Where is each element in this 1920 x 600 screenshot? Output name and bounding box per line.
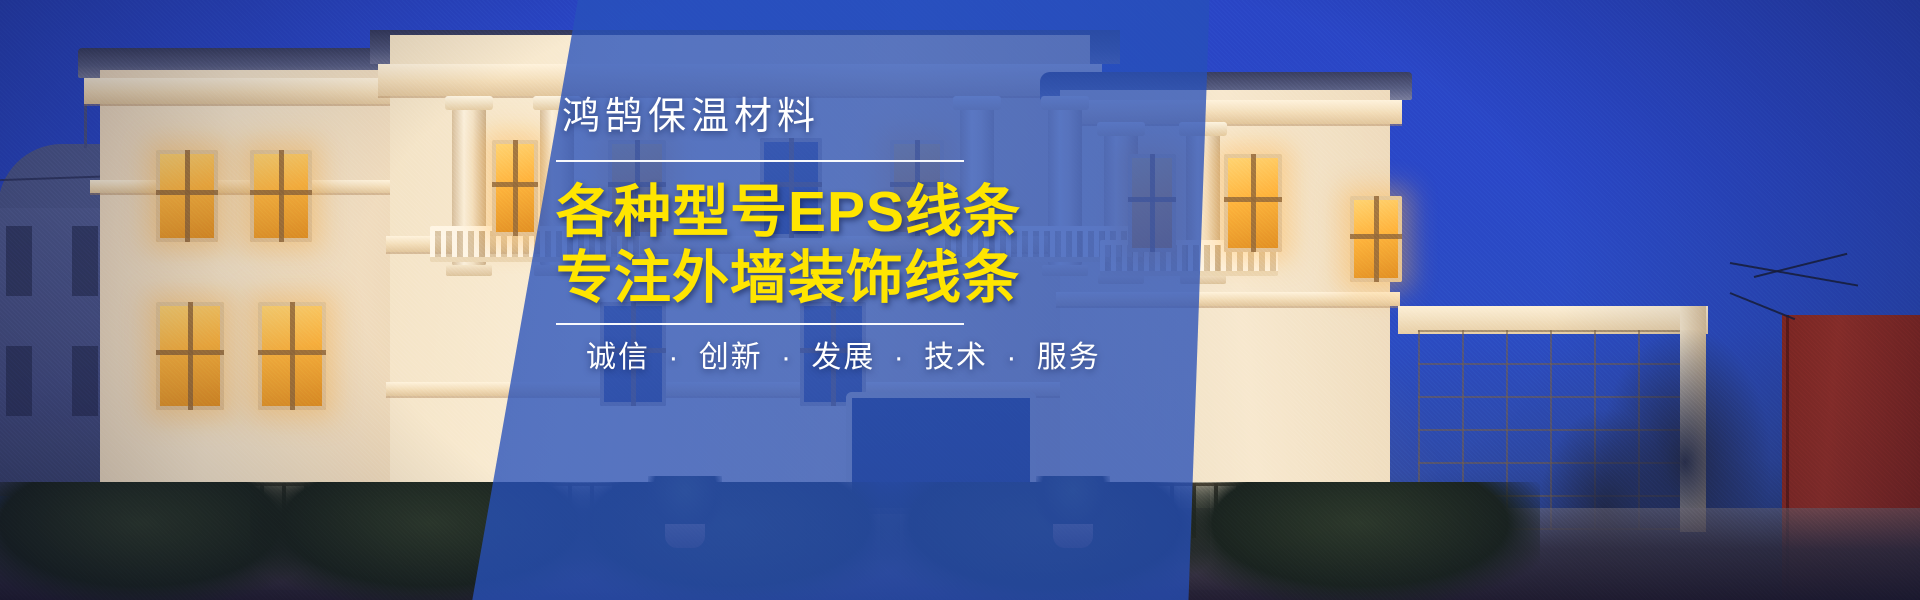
planter-right [1036,476,1110,534]
tagline-item-1: 创新 [699,341,763,374]
left-band [90,180,408,193]
window-2 [250,150,312,242]
window-9 [1128,154,1176,252]
hero-banner: 鸿鹄保温材料 各种型号EPS线条 专注外墙装饰线条 诚信 · 创新 · 发展 ·… [0,0,1920,600]
divider-top [556,160,964,162]
planter-left [648,476,722,534]
window-4 [258,302,326,410]
tagline-separator-1: · [781,341,793,374]
right-cornice [1050,100,1402,124]
divider-bottom [556,323,964,325]
tagline-item-2: 发展 [811,341,875,374]
tagline: 诚信 · 创新 · 发展 · 技术 · 服务 [586,343,1026,373]
hedge-3 [560,482,900,600]
window-5 [492,140,538,236]
tagline-item-4: 服务 [1037,341,1101,374]
window-3 [156,302,224,410]
headline-line-1: 各种型号EPS线条 [556,182,1026,244]
banner-text-block: 鸿鹄保温材料 各种型号EPS线条 专注外墙装饰线条 诚信 · 创新 · 发展 ·… [556,98,1026,373]
hedge-5 [1180,482,1540,600]
window-10 [1224,154,1282,252]
headline-line-2: 专注外墙装饰线条 [556,248,1026,310]
company-name: 鸿鹄保温材料 [562,98,1026,136]
tagline-item-3: 技术 [924,341,988,374]
window-11 [1350,196,1402,282]
tagline-separator-2: · [894,341,906,374]
center-cornice [378,64,1102,96]
hedge-2 [250,482,610,600]
left-cornice [84,78,414,104]
tagline-separator-0: · [668,341,680,374]
window-1 [156,150,218,242]
tagline-separator-3: · [1006,341,1018,374]
tagline-item-0: 诚信 [586,341,650,374]
right-band [1056,292,1400,306]
